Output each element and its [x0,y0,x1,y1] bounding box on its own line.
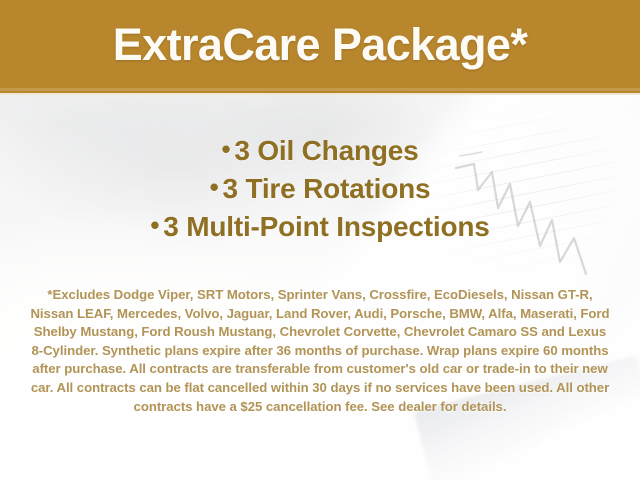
benefit-label: 3 Multi-Point Inspections [163,211,489,242]
bullet-icon: • [221,136,230,162]
bullet-icon: • [210,174,219,200]
list-item: •3 Multi-Point Inspections [0,208,640,246]
extracare-package-promo-card: ExtraCare Package* •3 Oil Changes •3 Tir… [0,0,640,480]
list-item: •3 Oil Changes [0,132,640,170]
header-banner: ExtraCare Package* [0,0,640,95]
list-item: •3 Tire Rotations [0,170,640,208]
benefit-label: 3 Oil Changes [234,135,418,166]
page-title: ExtraCare Package* [113,22,527,71]
benefit-label: 3 Tire Rotations [223,173,431,204]
disclaimer-text: *Excludes Dodge Viper, SRT Motors, Sprin… [30,286,610,416]
bullet-icon: • [150,212,159,238]
benefits-list: •3 Oil Changes •3 Tire Rotations •3 Mult… [0,132,640,246]
